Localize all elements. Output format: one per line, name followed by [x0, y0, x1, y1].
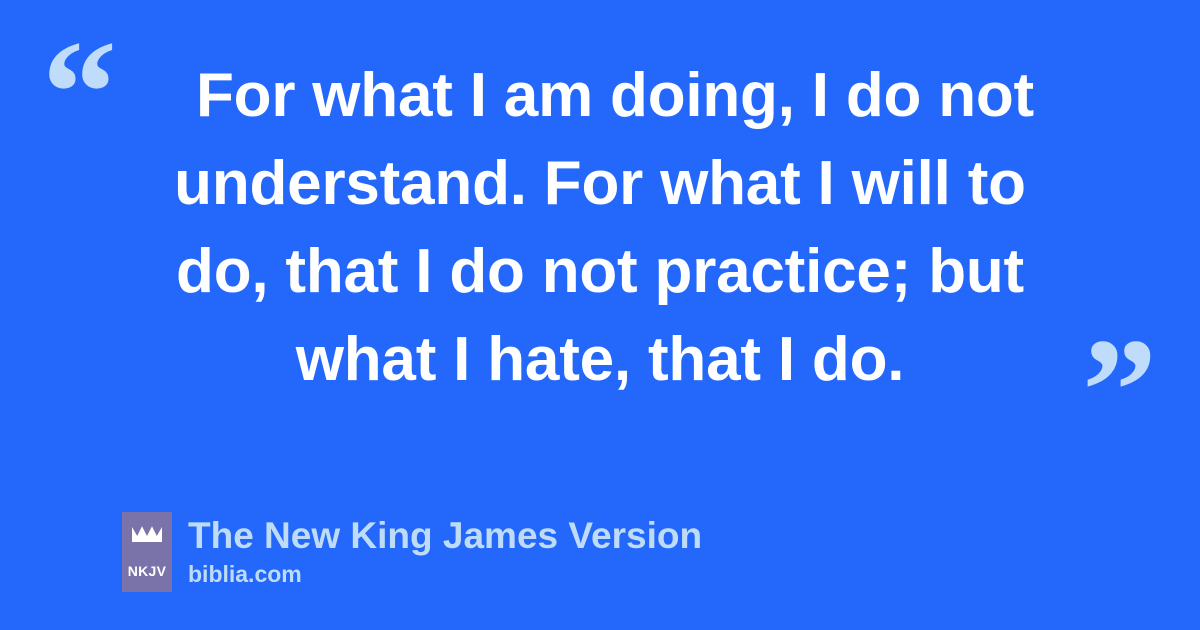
site-url[interactable]: biblia.com [188, 559, 702, 589]
quote-block: For what I am doing, I do not understand… [110, 52, 1090, 404]
badge-abbreviation: NKJV [128, 564, 167, 578]
attribution: NKJV The New King James Version biblia.c… [122, 512, 702, 592]
version-badge: NKJV [122, 512, 172, 592]
quote-line: For what I am doing, I do not [110, 52, 1090, 140]
bible-quote-card: “ For what I am doing, I do not understa… [0, 0, 1200, 630]
quote-line: what I hate, that I do. [110, 316, 1090, 404]
opening-quote-icon: “ [42, 18, 117, 168]
bible-version-name: The New King James Version [188, 514, 702, 558]
crown-icon [132, 525, 162, 543]
quote-line: understand. For what I will to [110, 140, 1090, 228]
quote-line: do, that I do not practice; but [110, 228, 1090, 316]
closing-quote-icon: ” [1082, 316, 1157, 466]
attribution-text: The New King James Version biblia.com [188, 512, 702, 589]
